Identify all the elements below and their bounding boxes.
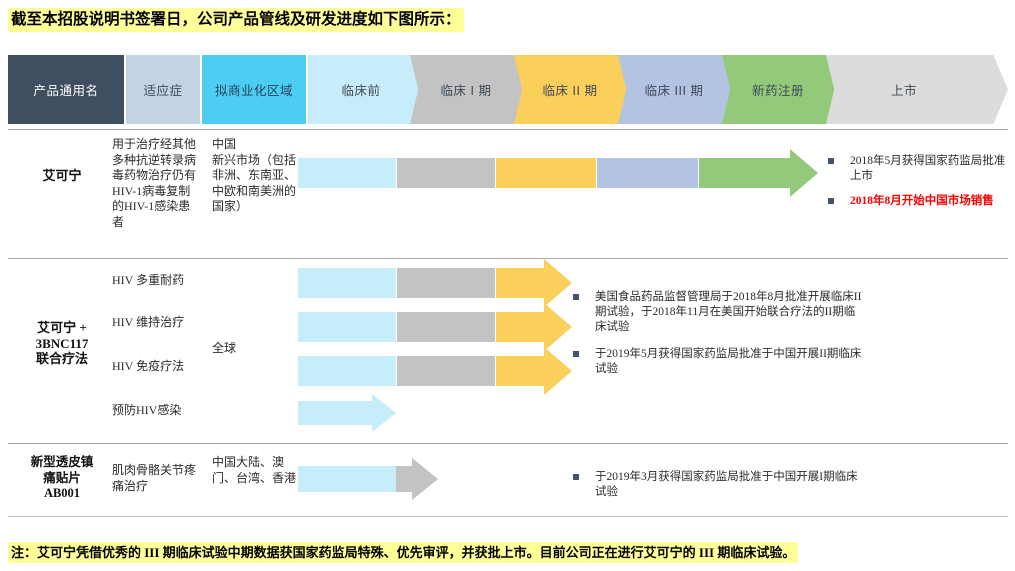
row2-arrow-head — [544, 303, 572, 351]
note-text: 美国食品药品监督管理局于2018年8月批准开展临床II期试验，于2018年11月… — [595, 290, 863, 335]
row1-seg-phase1 — [397, 158, 495, 188]
row2-note-2: 于2019年5月获得国家药监局批准于中国开展II期临床试验 — [573, 347, 863, 377]
pipeline-col-label: 临床前 — [341, 80, 380, 99]
row2-arrow-head — [544, 259, 572, 307]
pipeline-col-label: 临床 II 期 — [543, 80, 598, 99]
row1-arrow-head — [790, 149, 818, 197]
row3-product-name: 新型透皮镇 痛贴片 AB001 — [14, 455, 110, 502]
row2-seg-preclinical — [298, 401, 372, 425]
pipeline-col-product-name[interactable]: 产品通用名 — [8, 55, 124, 124]
row2-seg-phase2 — [496, 268, 544, 298]
row3-indication: 肌肉骨骼关节疼痛治疗 — [112, 463, 204, 494]
bullet-icon — [828, 158, 834, 164]
pipeline-col-registration[interactable]: 新药注册 — [722, 55, 840, 124]
bullet-icon — [573, 474, 579, 480]
row2-arrow-head — [544, 347, 572, 395]
row1-note-2: 2018年8月开始中国市场销售 — [828, 194, 1008, 209]
row1-seg-phase3 — [597, 158, 698, 188]
bullet-icon — [573, 294, 579, 300]
row2-seg-preclinical — [298, 312, 396, 342]
row3-progress-arrow — [298, 466, 458, 492]
page-headline: 截至本招股说明书签署日，公司产品管线及研发进度如下图所示： — [8, 8, 464, 32]
note-text: 于2019年3月获得国家药监局批准于中国开展I期临床试验 — [595, 470, 863, 500]
row1-seg-registration — [699, 158, 790, 188]
pipeline-col-indication[interactable]: 适应症 — [126, 55, 200, 124]
pipeline-col-preclinical[interactable]: 临床前 — [308, 55, 424, 124]
row1-seg-preclinical — [298, 158, 396, 188]
divider-top — [8, 129, 1008, 130]
row3-note-1: 于2019年3月获得国家药监局批准于中国开展I期临床试验 — [573, 470, 863, 500]
bullet-icon — [573, 351, 579, 357]
pipeline-col-label: 临床 I 期 — [441, 80, 492, 99]
row1-progress-arrow — [298, 158, 818, 188]
row2-seg-preclinical — [298, 356, 396, 386]
bullet-icon — [828, 198, 834, 204]
divider-bottom — [8, 516, 1008, 517]
row1-seg-phase2 — [496, 158, 596, 188]
note-text: 2018年8月开始中国市场销售 — [850, 194, 1008, 209]
row3-arrow-head — [412, 458, 438, 500]
row1-note-1: 2018年5月获得国家药监局批准上市 — [828, 154, 1008, 184]
row2-arrow-head — [372, 394, 396, 432]
row3-seg-preclinical — [298, 466, 396, 492]
pipeline-col-market[interactable]: 上市 — [826, 55, 1008, 124]
row2-note-1: 美国食品药品监督管理局于2018年8月批准开展临床II期试验，于2018年11月… — [573, 290, 863, 335]
divider-row1-row2 — [8, 258, 1008, 259]
row2-sub1-indication: HIV 多重耐药 — [112, 273, 212, 289]
row2-sub2-indication: HIV 维持治疗 — [112, 315, 212, 331]
row2-seg-phase1 — [397, 268, 495, 298]
row2-seg-preclinical — [298, 268, 396, 298]
row2-sub4-progress-arrow — [298, 401, 428, 425]
row2-sub2-progress-arrow — [298, 312, 568, 342]
row2-seg-phase2 — [496, 356, 544, 386]
row1-indication: 用于治疗经其他多种抗逆转录病毒药物治疗仍有HIV-1病毒复制的HIV-1感染患者 — [112, 137, 197, 230]
page-footnote: 注：艾可宁凭借优秀的 III 期临床试验中期数据获国家药监局特殊、优先审评，并获… — [8, 542, 798, 563]
row1-geography: 中国 新兴市场（包括非洲、东南亚、中欧和南美洲的国家） — [212, 137, 298, 215]
note-text: 于2019年5月获得国家药监局批准于中国开展II期临床试验 — [595, 347, 863, 377]
row2-sub1-progress-arrow — [298, 268, 568, 298]
pipeline-col-geography[interactable]: 拟商业化区域 — [202, 55, 306, 124]
pipeline-col-label: 适应症 — [143, 80, 182, 99]
pipeline-col-label: 产品通用名 — [33, 80, 98, 99]
row2-seg-phase1 — [397, 312, 495, 342]
pipeline-col-label: 临床 III 期 — [645, 80, 704, 99]
row2-product-name: 艾可宁 + 3BNC117 联合疗法 — [14, 320, 110, 367]
row2-seg-phase1 — [397, 356, 495, 386]
row1-product-name: 艾可宁 — [14, 168, 110, 184]
row2-seg-phase2 — [496, 312, 544, 342]
note-text: 2018年5月获得国家药监局批准上市 — [850, 154, 1008, 184]
pipeline-col-phase3[interactable]: 临床 III 期 — [618, 55, 736, 124]
row2-geography: 全球 — [212, 341, 298, 357]
row3-seg-tail-gray — [396, 466, 412, 492]
row2-sub4-indication: 预防HIV感染 — [112, 403, 212, 419]
row3-geography: 中国大陆、澳门、台湾、香港 — [212, 455, 298, 486]
pipeline-header: 产品通用名 适应症 拟商业化区域 临床前 临床 I 期 临床 II 期 临床 I… — [8, 55, 1008, 124]
pipeline-col-phase2[interactable]: 临床 II 期 — [514, 55, 632, 124]
row2-sub3-indication: HIV 免疫疗法 — [112, 359, 212, 375]
pipeline-col-phase1[interactable]: 临床 I 期 — [410, 55, 528, 124]
row2-sub3-progress-arrow — [298, 356, 568, 386]
pipeline-col-label: 新药注册 — [752, 80, 804, 99]
pipeline-col-label: 拟商业化区域 — [215, 80, 293, 99]
pipeline-col-label: 上市 — [891, 80, 917, 99]
divider-row2-row3 — [8, 443, 1008, 444]
